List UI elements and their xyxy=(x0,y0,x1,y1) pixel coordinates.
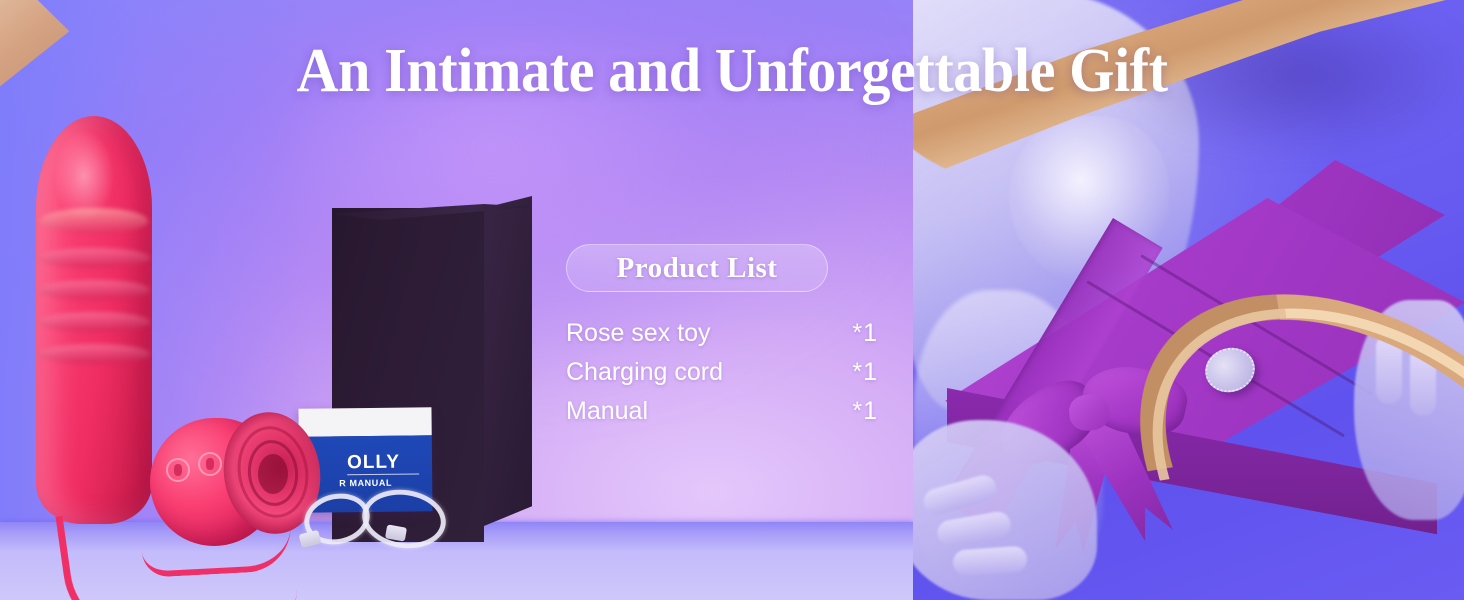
product-list-item: Charging cord *1 xyxy=(566,353,878,392)
rose-center xyxy=(258,454,288,494)
dark-box-side xyxy=(484,196,532,526)
toy-ridge xyxy=(38,280,150,300)
product-list-item-name: Rose sex toy xyxy=(566,314,711,353)
product-list-item: Manual *1 xyxy=(566,392,878,431)
page-title: An Intimate and Unforgettable Gift xyxy=(44,36,1420,107)
manual-subtitle-text: R MANUAL xyxy=(339,478,392,489)
finger xyxy=(921,472,999,517)
usb-charging-cable xyxy=(300,488,452,554)
product-list-item: Rose sex toy *1 xyxy=(566,314,878,353)
toy-ridge xyxy=(38,248,150,268)
finger xyxy=(935,510,1012,548)
product-list-item-name: Manual xyxy=(566,392,648,431)
cable-plug xyxy=(299,530,322,548)
rose-mode-button-icon xyxy=(198,452,222,476)
product-list-item-name: Charging cord xyxy=(566,353,723,392)
ribbed-pink-toy xyxy=(36,116,156,536)
toy-collar xyxy=(40,208,148,234)
product-list-block: Product List Rose sex toy *1 Charging co… xyxy=(566,244,886,431)
promo-banner: OLLY R MANUAL Product List xyxy=(0,0,1464,600)
finger xyxy=(952,545,1028,576)
product-list-badge-label: Product List xyxy=(617,252,778,285)
toy-ridge xyxy=(38,344,150,364)
manual-brand-text: OLLY xyxy=(347,452,400,475)
product-list-rows: Rose sex toy *1 Charging cord *1 Manual … xyxy=(566,314,878,431)
rose-suction-toy xyxy=(150,410,320,550)
rose-power-button-icon xyxy=(166,458,190,482)
product-list-item-qty: *1 xyxy=(852,353,878,392)
product-list-badge: Product List xyxy=(566,244,828,292)
product-list-item-qty: *1 xyxy=(852,314,878,353)
product-list-item-qty: *1 xyxy=(852,392,878,431)
cable-loop xyxy=(358,484,449,553)
toy-ridge xyxy=(38,312,150,332)
